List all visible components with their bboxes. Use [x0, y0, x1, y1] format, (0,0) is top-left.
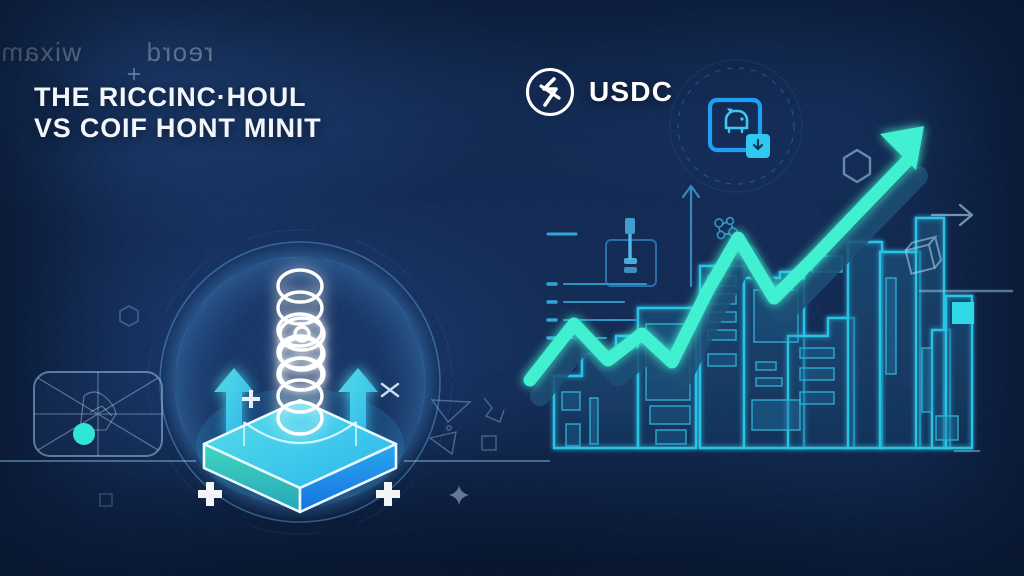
plus-sparkle-icon-2 — [240, 388, 262, 410]
network-sketch-card — [32, 368, 166, 464]
headline-line-1: THE RICCINC·HOUL — [34, 82, 454, 113]
wallet-badge-group — [666, 56, 806, 196]
x-spark-icon — [378, 378, 402, 402]
sparkle-star-icon — [448, 484, 470, 506]
download-badge-icon — [746, 134, 770, 158]
dashed-ring — [678, 68, 794, 184]
usdc-label: USDC — [589, 76, 673, 108]
cyan-dot — [73, 423, 95, 445]
usdc-coin-icon — [524, 66, 576, 118]
headline-line-2: VS COIF HONT MINIT — [34, 113, 454, 144]
usdc-brand-lockup: USDC — [524, 66, 673, 118]
small-glyph-icon — [96, 490, 116, 510]
hexagon-small-icon — [118, 304, 140, 328]
coin-stack-top-icon — [262, 318, 342, 388]
plus-sparkle-icon — [126, 66, 142, 82]
headline: THE RICCINC·HOUL VS COIF HONT MINIT — [34, 82, 454, 145]
infographic-banner: THE RICCINC·HOUL VS COIF HONT MINIT USDC — [0, 0, 1024, 576]
